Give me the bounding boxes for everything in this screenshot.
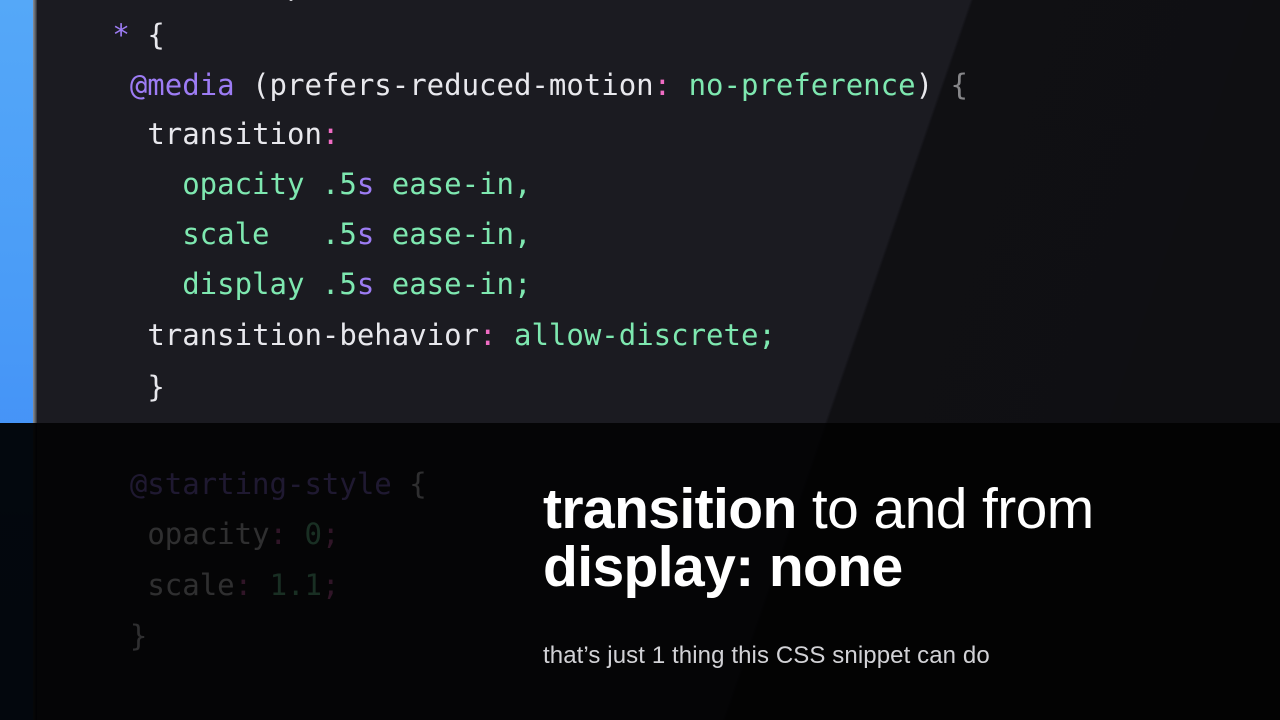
code-token-colon: : <box>654 68 671 102</box>
code-token-plain <box>933 68 950 102</box>
code-token-selector: * <box>112 18 129 52</box>
code-indent <box>60 467 130 501</box>
code-token-number: .5 <box>322 217 357 251</box>
code-token-colon: : <box>479 318 496 352</box>
code-token-unit: s <box>357 217 374 251</box>
code-token-plain <box>497 318 514 352</box>
code-token-semi: ; <box>322 568 339 602</box>
code-indent <box>60 267 182 301</box>
code-line-transition-scale[interactable]: scale .5s ease-in, <box>0 209 1280 259</box>
code-token-prop: opacity <box>147 517 269 551</box>
code-line-transition-display[interactable]: display .5s ease-in; <box>0 259 1280 309</box>
code-token-plain <box>304 167 321 201</box>
code-token-value: no-preference <box>689 68 916 102</box>
code-indent <box>60 517 147 551</box>
code-token-number: 0 <box>304 517 321 551</box>
code-token-colon: : <box>322 117 339 151</box>
caption-title: transition to and from display: none <box>543 481 1243 596</box>
code-indent <box>60 217 182 251</box>
code-token-brace: { <box>409 467 426 501</box>
caption-title-keyword: transition <box>543 477 797 541</box>
code-token-plain <box>374 217 391 251</box>
code-token-unit: s <box>357 267 374 301</box>
code-token-value: display <box>182 267 304 301</box>
caption-title-line2: display: none <box>543 539 1243 596</box>
code-token-plain <box>287 517 304 551</box>
code-indent <box>60 68 130 102</box>
code-token-unit: s <box>357 167 374 201</box>
code-token-value: , <box>514 217 531 251</box>
code-line-close-media[interactable]: } <box>0 362 1280 412</box>
code-token-plain <box>270 217 322 251</box>
code-token-brace: { <box>951 68 968 102</box>
code-indent <box>60 370 147 404</box>
code-indent <box>60 167 182 201</box>
screenshot-stage: @media (prefers-reduced-motion * { @medi… <box>0 0 1280 720</box>
code-indent <box>60 18 112 52</box>
code-line-transition-opacity[interactable]: opacity .5s ease-in, <box>0 159 1280 209</box>
code-token-semi: ; <box>322 517 339 551</box>
code-indent <box>60 619 130 653</box>
code-line-at-media[interactable]: @media (prefers-reduced-motion: no-prefe… <box>0 60 1280 110</box>
left-accent-rail <box>0 0 33 720</box>
code-token-atrule: @media <box>130 68 235 102</box>
caption-title-rest: to and from <box>797 477 1094 541</box>
code-token-value: ease-in <box>392 267 514 301</box>
code-token-value: scale <box>182 217 269 251</box>
code-token-value: ease-in <box>392 167 514 201</box>
caption-block: transition to and from display: none tha… <box>543 481 1243 670</box>
code-token-plain <box>252 568 269 602</box>
code-token-brace: } <box>130 619 147 653</box>
code-indent <box>60 568 147 602</box>
code-token-prop: transition-behavior <box>147 318 479 352</box>
code-token-plain <box>130 18 147 52</box>
code-token-number: .5 <box>322 167 357 201</box>
code-token-plain: (prefers-reduced-motion <box>235 68 654 102</box>
code-token-plain <box>374 167 391 201</box>
code-token-punct: ) <box>916 68 933 102</box>
code-token-colon: : <box>270 517 287 551</box>
code-indent <box>60 318 147 352</box>
code-line-prop-transition-behavior[interactable]: transition-behavior: allow-discrete; <box>0 310 1280 360</box>
code-token-colon: : <box>235 568 252 602</box>
code-indent <box>60 117 147 151</box>
code-token-number: .5 <box>322 267 357 301</box>
code-token-value: ease-in <box>392 217 514 251</box>
code-token-plain <box>304 267 321 301</box>
code-token-brace: } <box>147 370 164 404</box>
code-token-brace: { <box>147 18 164 52</box>
code-token-value: ; <box>514 267 531 301</box>
code-token-value: opacity <box>182 167 304 201</box>
code-token-number: 1.1 <box>270 568 322 602</box>
code-token-plain <box>374 267 391 301</box>
code-line-selector-universal[interactable]: * { <box>0 10 1280 60</box>
code-token-prop: transition <box>147 117 322 151</box>
code-line-clipped: @media (prefers-reduced-motion <box>0 0 1280 10</box>
code-token-plain <box>671 68 688 102</box>
code-token-atrule: @starting-style <box>130 467 392 501</box>
rail-divider <box>33 0 37 720</box>
code-token-value: , <box>514 167 531 201</box>
code-token-value: allow-discrete <box>514 318 758 352</box>
code-token-prop: scale <box>147 568 234 602</box>
code-token-value: ; <box>758 318 775 352</box>
code-token-plain <box>392 467 409 501</box>
code-line-prop-transition[interactable]: transition: <box>0 109 1280 159</box>
caption-subtitle: that’s just 1 thing this CSS snippet can… <box>543 596 1243 670</box>
